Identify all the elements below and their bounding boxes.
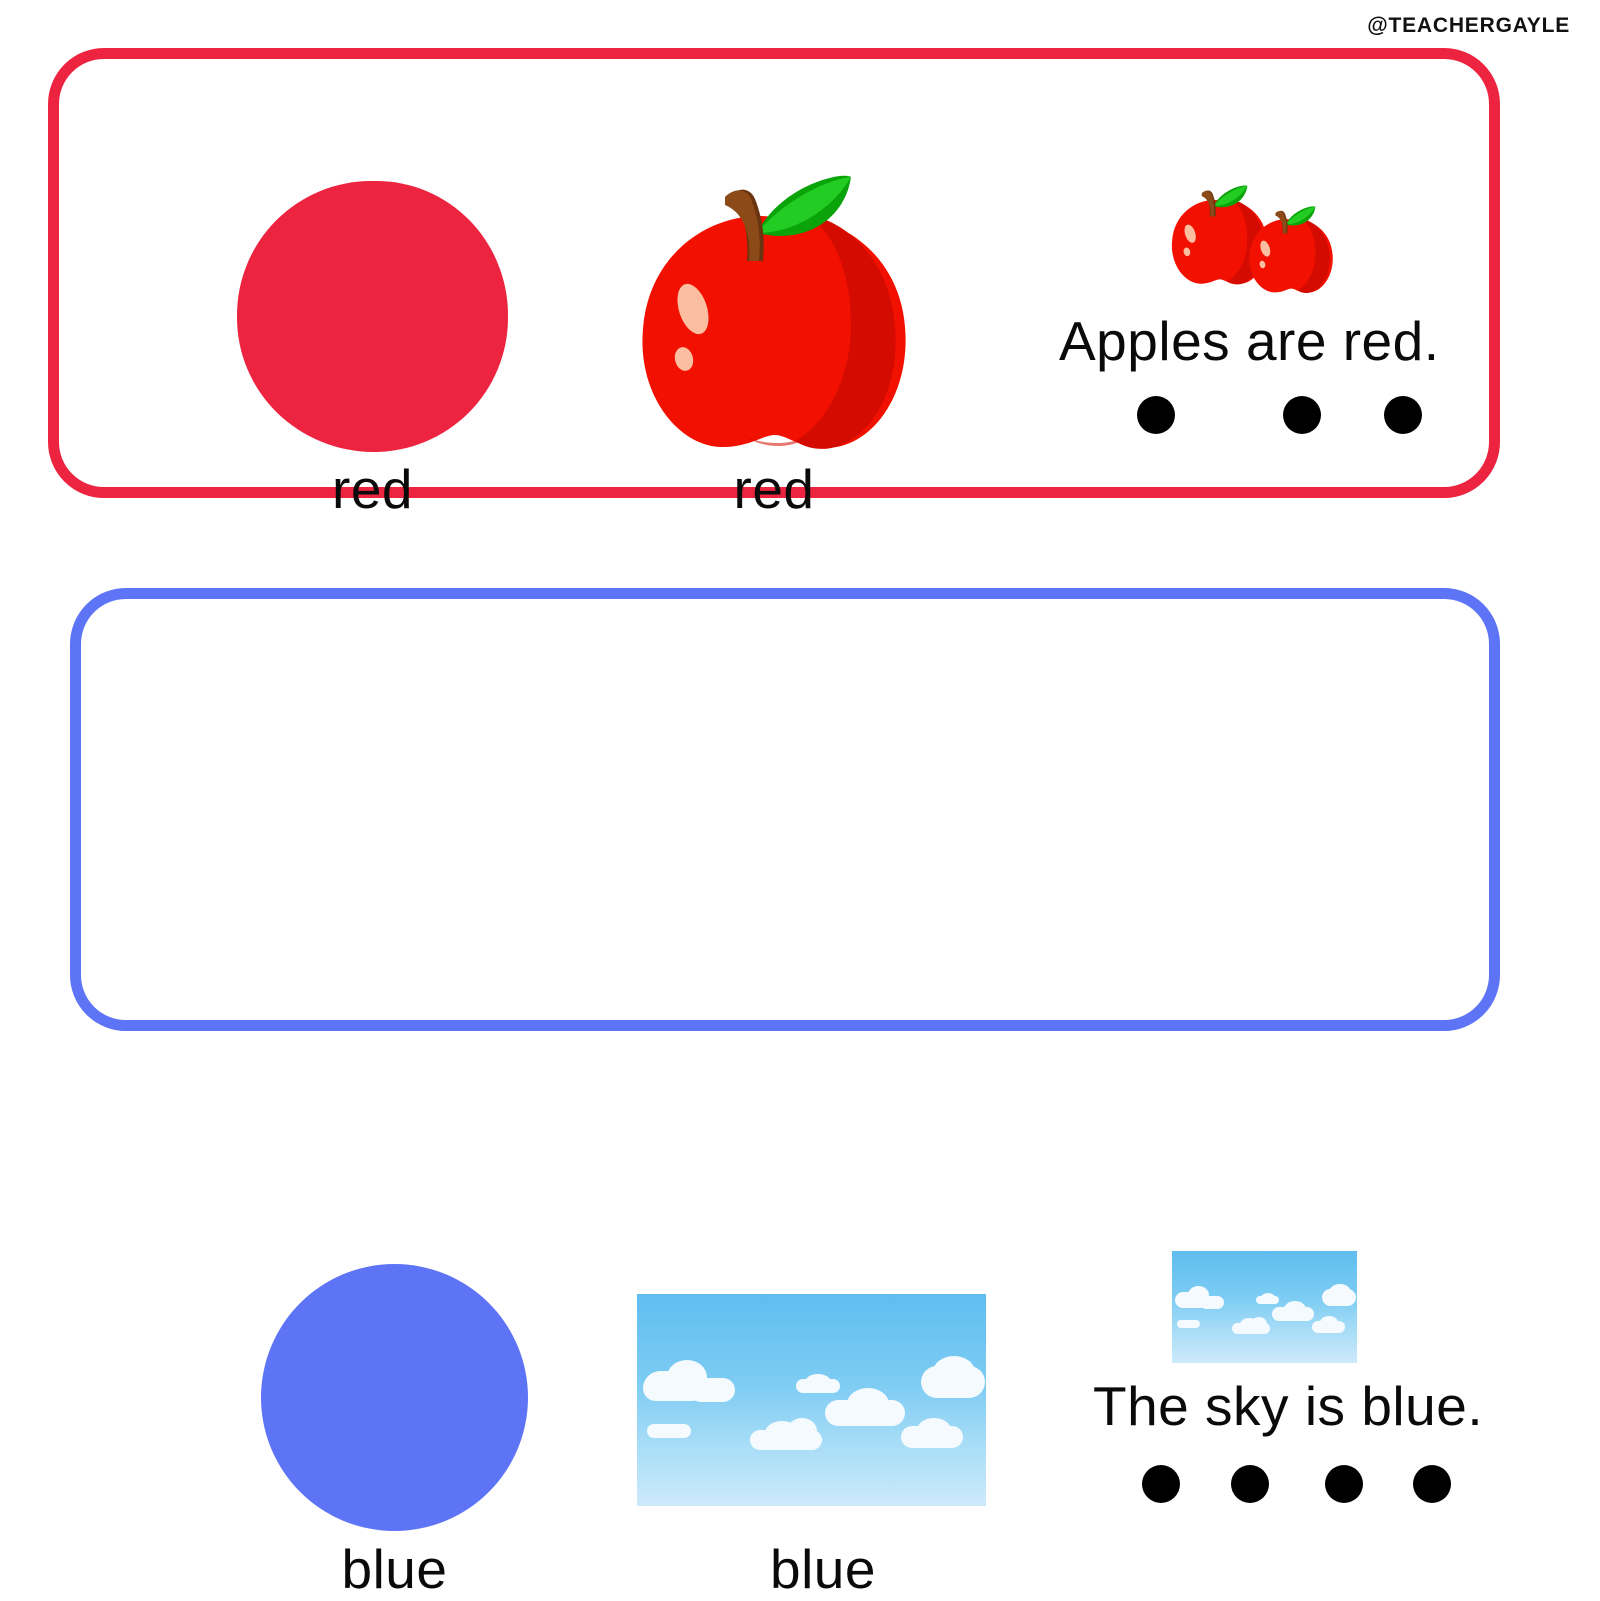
word-dot (1413, 1465, 1451, 1503)
cloud-shape (1320, 1316, 1338, 1329)
word-dot (1231, 1465, 1269, 1503)
small-sky-icon (1172, 1251, 1357, 1363)
red-color-swatch (237, 181, 508, 452)
watermark-handle: @TEACHERGAYLE (1367, 14, 1570, 38)
red-color-card: red red (48, 48, 1500, 498)
apple-object-label: red (629, 457, 919, 521)
cloud-shape (1200, 1296, 1224, 1309)
word-dot (1283, 396, 1321, 434)
cloud-shape (1261, 1293, 1275, 1302)
cloud-shape (805, 1374, 831, 1390)
word-dot (1325, 1465, 1363, 1503)
red-sentence: Apples are red. (1059, 309, 1440, 373)
cloud-shape (787, 1418, 817, 1444)
cloud-shape (1177, 1320, 1200, 1328)
blue-word-dots (1121, 1465, 1451, 1505)
cloud-shape (689, 1378, 735, 1402)
blue-color-swatch (261, 1264, 528, 1531)
word-dot (1137, 396, 1175, 434)
sky-object-label: blue (653, 1537, 993, 1601)
cloud-shape (847, 1388, 889, 1420)
word-dot (1142, 1465, 1180, 1503)
cloud-shape (647, 1424, 691, 1438)
red-word-dots (1099, 396, 1439, 436)
cloud-shape (933, 1356, 975, 1388)
word-dot (1384, 396, 1422, 434)
sky-icon (637, 1294, 986, 1506)
blue-color-card: blue blue The sky is blue (70, 588, 1500, 1031)
cloud-shape (1329, 1284, 1351, 1301)
blue-sentence: The sky is blue. (1093, 1374, 1483, 1438)
red-swatch-label: red (237, 457, 508, 521)
cloud-shape (917, 1418, 951, 1442)
small-apple-icon-right (1245, 199, 1337, 297)
cloud-shape (1284, 1301, 1306, 1318)
blue-swatch-label: blue (261, 1537, 528, 1601)
cloud-shape (1251, 1317, 1267, 1331)
apple-icon (629, 157, 919, 457)
